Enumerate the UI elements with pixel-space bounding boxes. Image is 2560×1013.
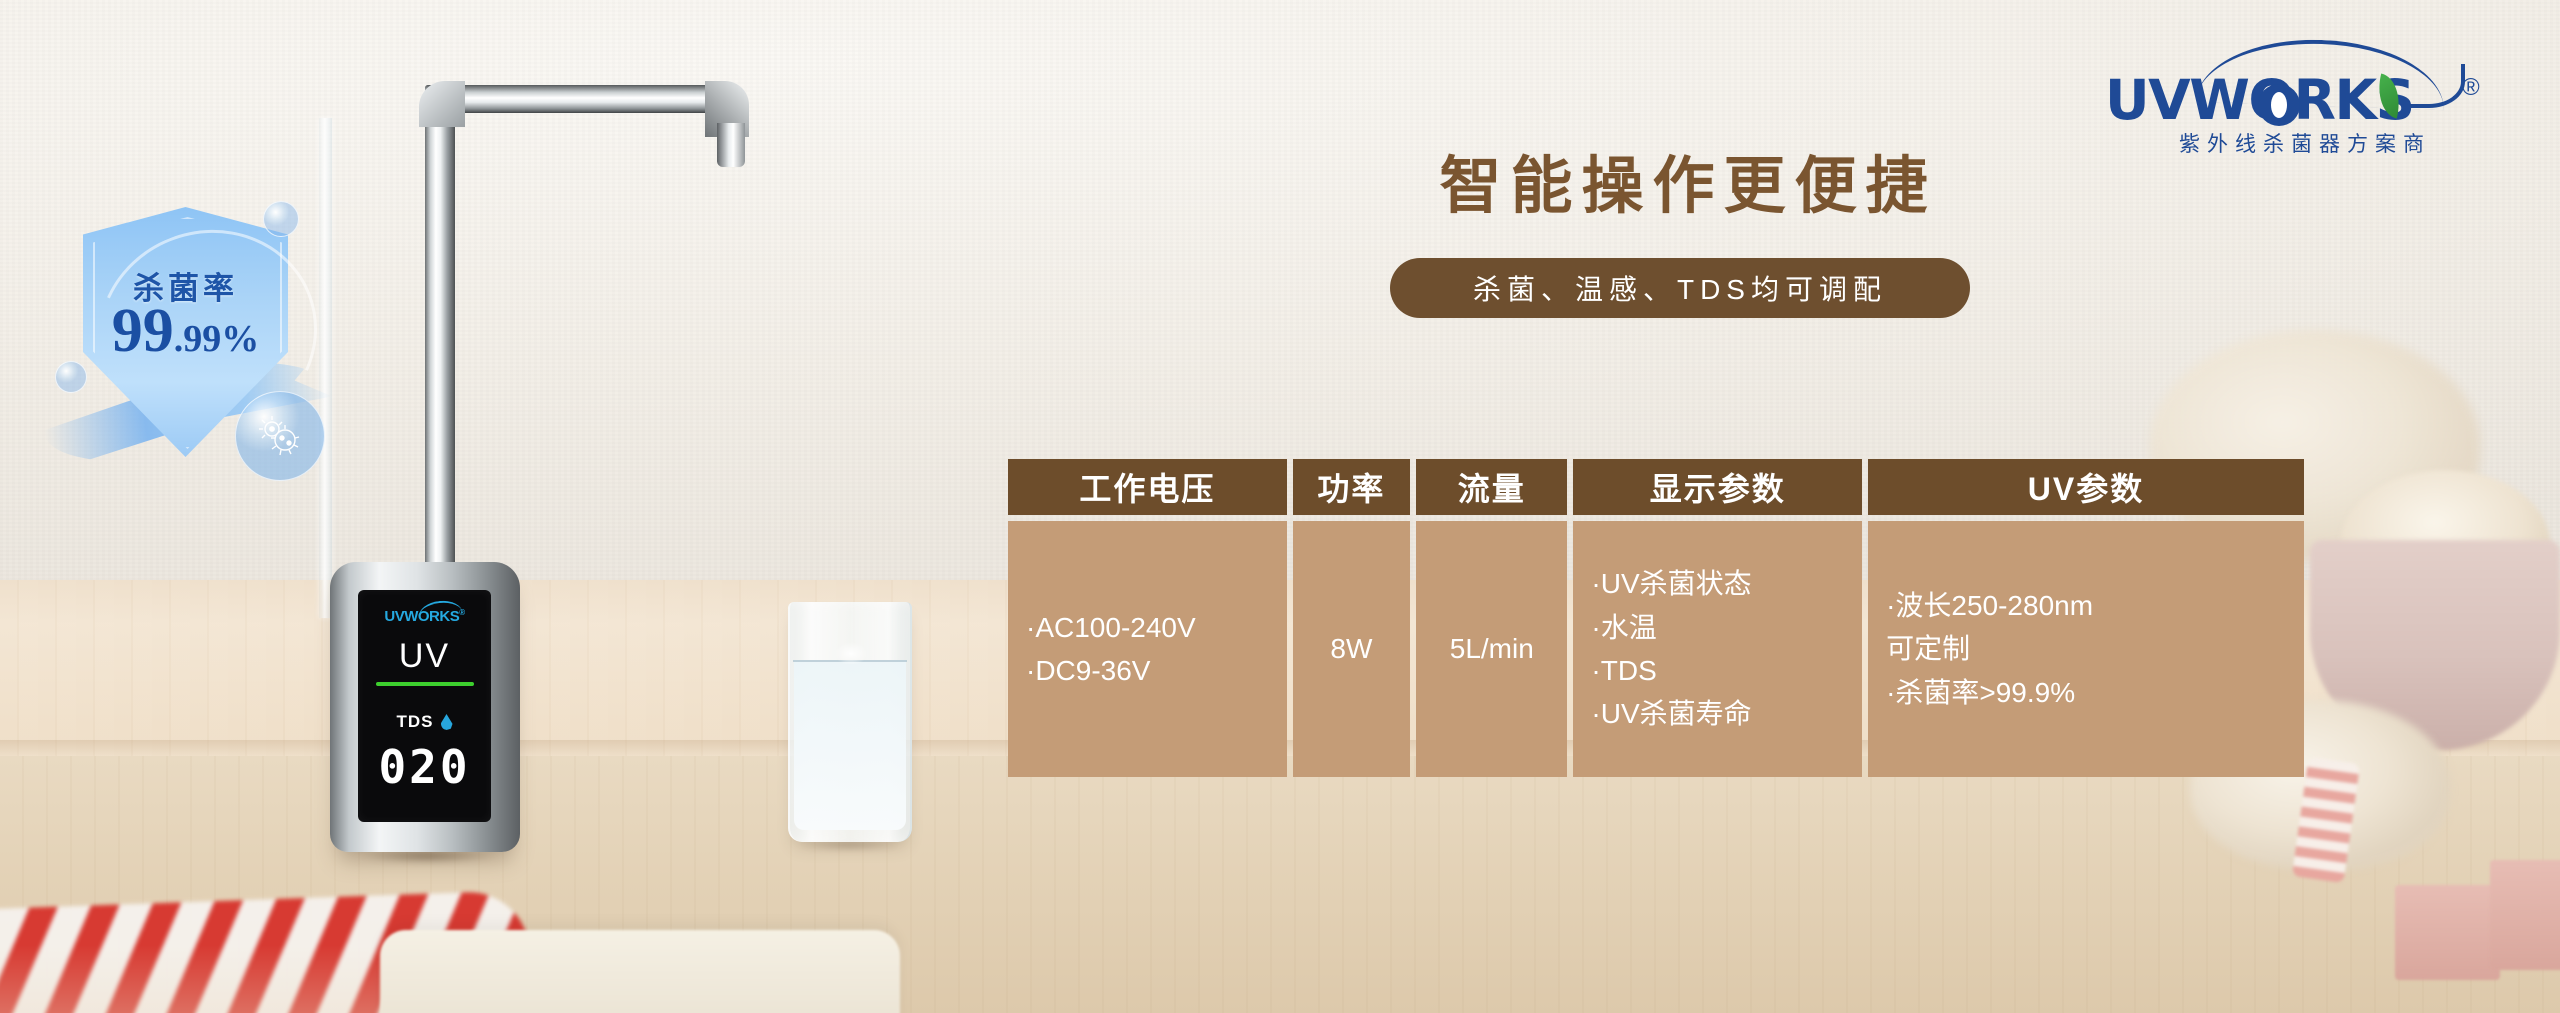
spec-cell: ·波长250-280nm 可定制·杀菌率>99.9% — [1868, 521, 2304, 777]
spec-header: 功率 — [1293, 459, 1410, 515]
spec-line: 8W — [1330, 627, 1372, 670]
faucet-outlet — [717, 123, 745, 167]
sterilization-rate-badge: 杀菌率 99.99% — [35, 185, 340, 485]
spec-line: ·TDS — [1591, 649, 1656, 692]
spec-column-1: 功率8W — [1293, 459, 1410, 777]
sunburst-icon — [2258, 84, 2300, 126]
water-glass — [788, 602, 912, 842]
germ-icon — [258, 416, 302, 456]
spec-header: UV参数 — [1868, 459, 2304, 515]
badge-value: 99.99% — [83, 300, 288, 362]
spec-column-2: 流量5L/min — [1416, 459, 1567, 777]
spec-line: ·DC9-36V — [1026, 649, 1150, 692]
water-drop-icon — [441, 714, 453, 730]
device-tds-label: TDS — [397, 712, 434, 732]
spec-line: 可定制 — [1886, 627, 1970, 670]
device-status-bar — [376, 682, 474, 686]
brand-logo: UVWORKS ® 紫外线杀菌器方案商 — [2105, 40, 2505, 148]
spec-line: ·杀菌率>99.9% — [1886, 671, 2075, 714]
uv-sterilizer-device: UVWORKS® UV TDS 020 — [330, 562, 520, 852]
device-display-screen: UVWORKS® UV TDS 020 — [358, 590, 491, 822]
device-tds-row: TDS — [397, 712, 453, 732]
spec-column-4: UV参数·波长250-280nm 可定制·杀菌率>99.9% — [1868, 459, 2304, 777]
faucet-spout-arm — [425, 85, 735, 113]
bubble-icon-1 — [263, 201, 299, 237]
device-mode-label: UV — [399, 637, 450, 676]
badge-value-major: 99 — [112, 297, 174, 365]
spec-column-3: 显示参数·UV杀菌状态·水温·TDS·UV杀菌寿命 — [1573, 459, 1862, 777]
chrome-faucet — [405, 45, 805, 565]
faucet-corner-left — [419, 81, 465, 127]
pink-block-left — [2395, 885, 2500, 980]
glass-water-fill — [794, 660, 906, 830]
water-splash-icon — [828, 630, 874, 664]
spec-line: ·波长250-280nm — [1886, 584, 2093, 627]
badge-value-minor: .99% — [174, 318, 260, 360]
spec-line: ·AC100-240V — [1026, 606, 1196, 649]
bubble-icon-2 — [55, 361, 87, 393]
pink-block-right — [2490, 860, 2560, 970]
spec-line: ·UV杀菌状态 — [1591, 562, 1751, 605]
faucet-riser — [425, 85, 455, 565]
registered-icon: ® — [2462, 74, 2480, 102]
germ-bubble — [235, 391, 325, 481]
subtitle-pill: 杀菌、温感、TDS均可调配 — [1390, 258, 1970, 318]
brand-name: UVWORKS — [2105, 68, 2505, 132]
spec-cell: 5L/min — [1416, 521, 1567, 777]
brand-tagline: 紫外线杀菌器方案商 — [2109, 128, 2501, 158]
spec-cell: ·UV杀菌状态·水温·TDS·UV杀菌寿命 — [1573, 521, 1862, 777]
spec-cell: ·AC100-240V·DC9-36V — [1008, 521, 1287, 777]
device-logo: UVWORKS® — [384, 608, 464, 625]
spec-line: ·UV杀菌寿命 — [1591, 692, 1751, 735]
spec-header: 流量 — [1416, 459, 1567, 515]
device-tds-value: 020 — [378, 740, 470, 794]
spec-line: 5L/min — [1450, 627, 1534, 670]
spec-cell: 8W — [1293, 521, 1410, 777]
page-title: 智能操作更便捷 — [1368, 135, 2008, 225]
spec-header: 工作电压 — [1008, 459, 1287, 515]
spec-table: 工作电压·AC100-240V·DC9-36V功率8W流量5L/min显示参数·… — [1008, 459, 2304, 777]
spec-column-0: 工作电压·AC100-240V·DC9-36V — [1008, 459, 1287, 777]
ceramic-plate — [380, 930, 900, 1013]
spec-header: 显示参数 — [1573, 459, 1862, 515]
spec-line: ·水温 — [1591, 606, 1656, 649]
banner-stage: UVWORKS® UV TDS 020 杀菌率 99.99% — [0, 0, 2560, 1013]
